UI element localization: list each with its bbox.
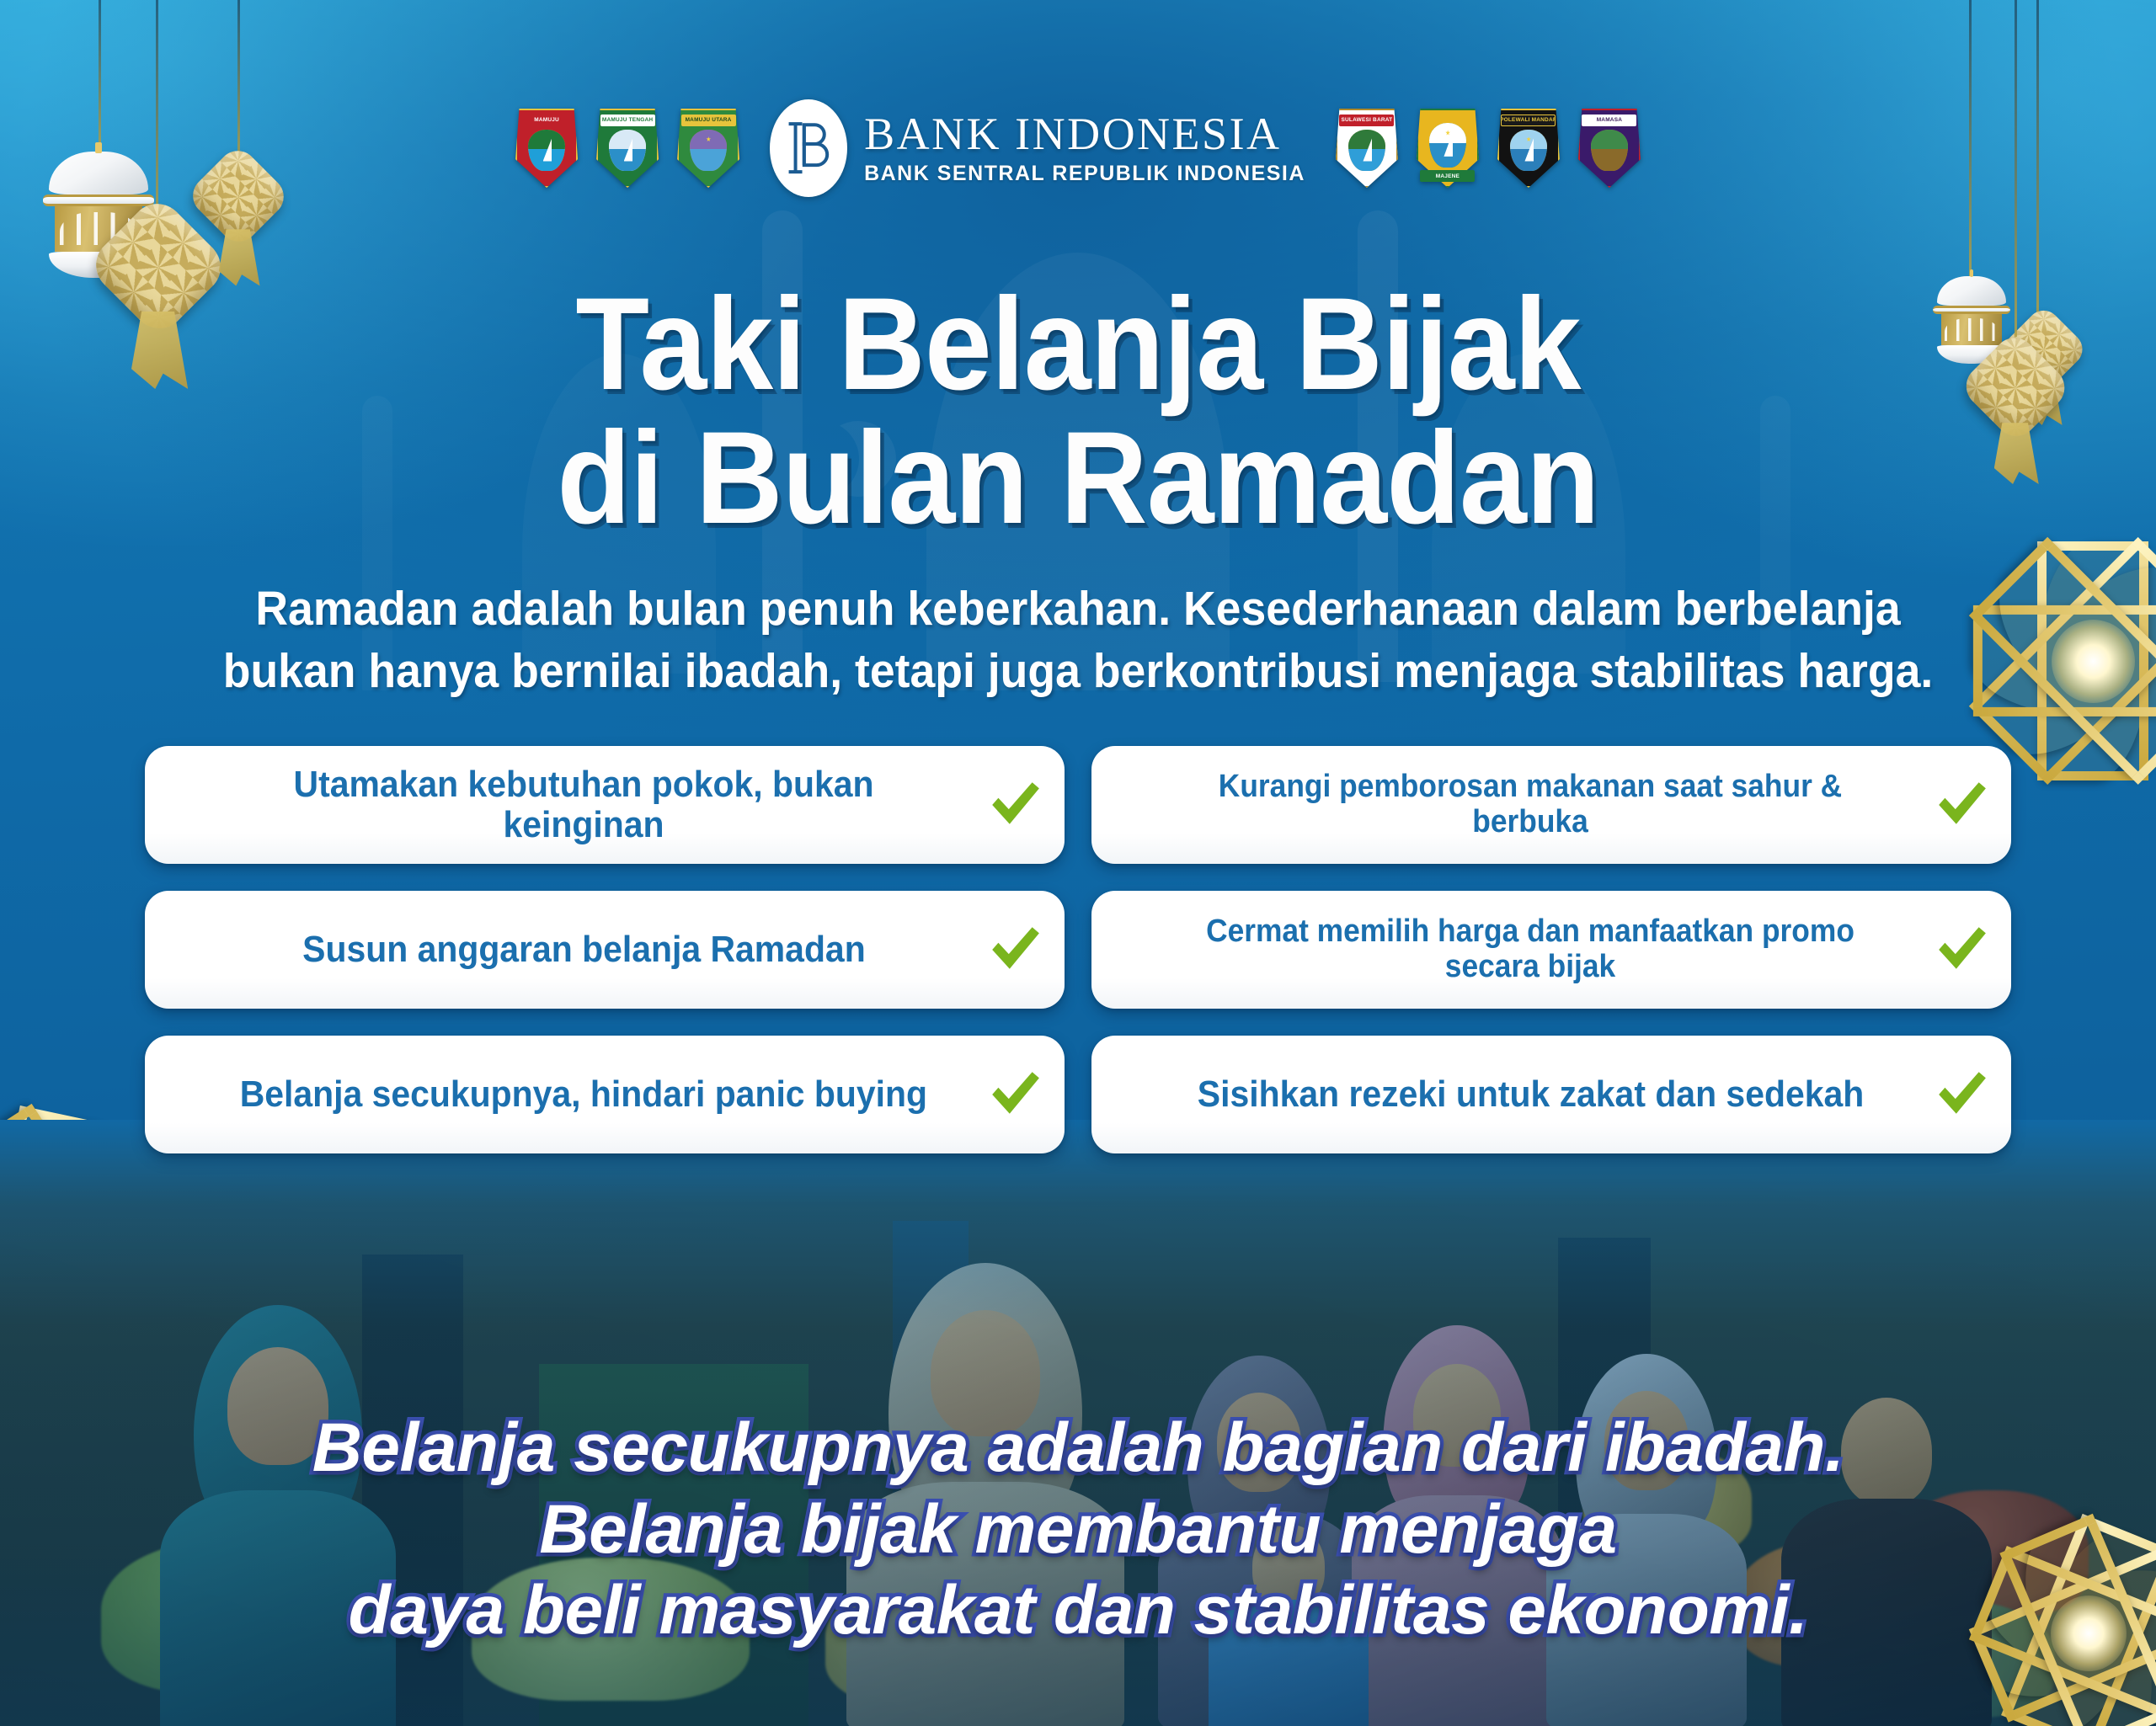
poster-subtitle: Ramadan adalah bulan penuh keberkahan. K… [0,578,2156,702]
crest-label: MAMUJU [520,115,574,126]
bank-indonesia-tagline: BANK SENTRAL REPUBLIK INDONESIA [864,162,1305,186]
tip-label: Susun anggaran belanja Ramadan [302,930,866,970]
ramadan-poster: MAMUJU MAMUJU TENGAH MAMUJU UTARA [0,0,2156,1726]
tip-card-zakat-sedekah[interactable]: Sisihkan rezeki untuk zakat dan sedekah [1091,1036,2011,1153]
check-icon [1934,777,1989,833]
crest-label: MAMASA [1582,115,1636,126]
crest-mamasa: MAMASA [1578,109,1641,188]
tip-label: Belanja secukupnya, hindari panic buying [240,1074,927,1115]
check-icon [987,922,1043,978]
crest-label: MAJENE [1420,170,1475,182]
crest-label: POLEWALI MANDAR [1501,115,1556,126]
poster-headline: Taki Belanja Bijak di Bulan Ramadan [0,278,2156,546]
crest-label: MAMUJU TENGAH [600,115,655,126]
tip-label: Utamakan kebutuhan pokok, bukan keingina… [211,764,956,846]
tip-card-cermat-harga-promo[interactable]: Cermat memilih harga dan manfaatkan prom… [1091,891,2011,1009]
check-icon [987,777,1043,833]
headline-line-2: di Bulan Ramadan [86,412,2069,546]
headline-line-1: Taki Belanja Bijak [86,278,2069,412]
crest-label: SULAWESI BARAT [1339,115,1394,126]
tip-label: Sisihkan rezeki untuk zakat dan sedekah [1197,1074,1863,1115]
crest-label: MAMUJU UTARA [681,115,736,126]
bank-indonesia-logo: BANK INDONESIA BANK SENTRAL REPUBLIK IND… [770,99,1305,197]
closing-message: Belanja secukupnya adalah bagian dari ib… [0,1408,2156,1652]
crest-majene: MAJENE [1417,109,1479,188]
closing-line-1: Belanja secukupnya adalah bagian dari ib… [93,1408,2063,1489]
tip-card-pemborosan-makanan[interactable]: Kurangi pemborosan makanan saat sahur & … [1091,746,2011,864]
tip-label: Cermat memilih harga dan manfaatkan prom… [1158,914,1903,985]
tips-grid: Utamakan kebutuhan pokok, bukan keingina… [145,746,2011,1153]
crest-polewali-mandar: POLEWALI MANDAR [1497,109,1560,188]
bank-indonesia-mark [770,99,847,197]
check-icon [1934,1067,1989,1122]
tip-card-hindari-panic-buying[interactable]: Belanja secukupnya, hindari panic buying [145,1036,1065,1153]
tip-card-anggaran-belanja[interactable]: Susun anggaran belanja Ramadan [145,891,1065,1009]
tip-label: Kurangi pemborosan makanan saat sahur & … [1158,770,1903,840]
tip-card-kebutuhan-pokok[interactable]: Utamakan kebutuhan pokok, bukan keingina… [145,746,1065,864]
check-icon [1934,922,1989,978]
closing-line-3: daya beli masyarakat dan stabilitas ekon… [93,1570,2063,1652]
crest-mamuju: MAMUJU [515,109,578,188]
subtitle-line-2: bukan hanya bernilai ibadah, tetapi juga… [200,640,1957,702]
bank-indonesia-name: BANK INDONESIA [864,110,1305,158]
crest-mamuju-utara: MAMUJU UTARA [677,109,739,188]
crest-sulawesi-barat: SULAWESI BARAT [1336,109,1398,188]
check-icon [987,1067,1043,1122]
logo-bar: MAMUJU MAMUJU TENGAH MAMUJU UTARA [0,99,2156,197]
crest-mamuju-tengah: MAMUJU TENGAH [596,109,659,188]
bank-indonesia-wordmark: BANK INDONESIA BANK SENTRAL REPUBLIK IND… [864,110,1305,187]
subtitle-line-1: Ramadan adalah bulan penuh keberkahan. K… [200,578,1957,640]
closing-line-2: Belanja bijak membantu menjaga [93,1489,2063,1571]
